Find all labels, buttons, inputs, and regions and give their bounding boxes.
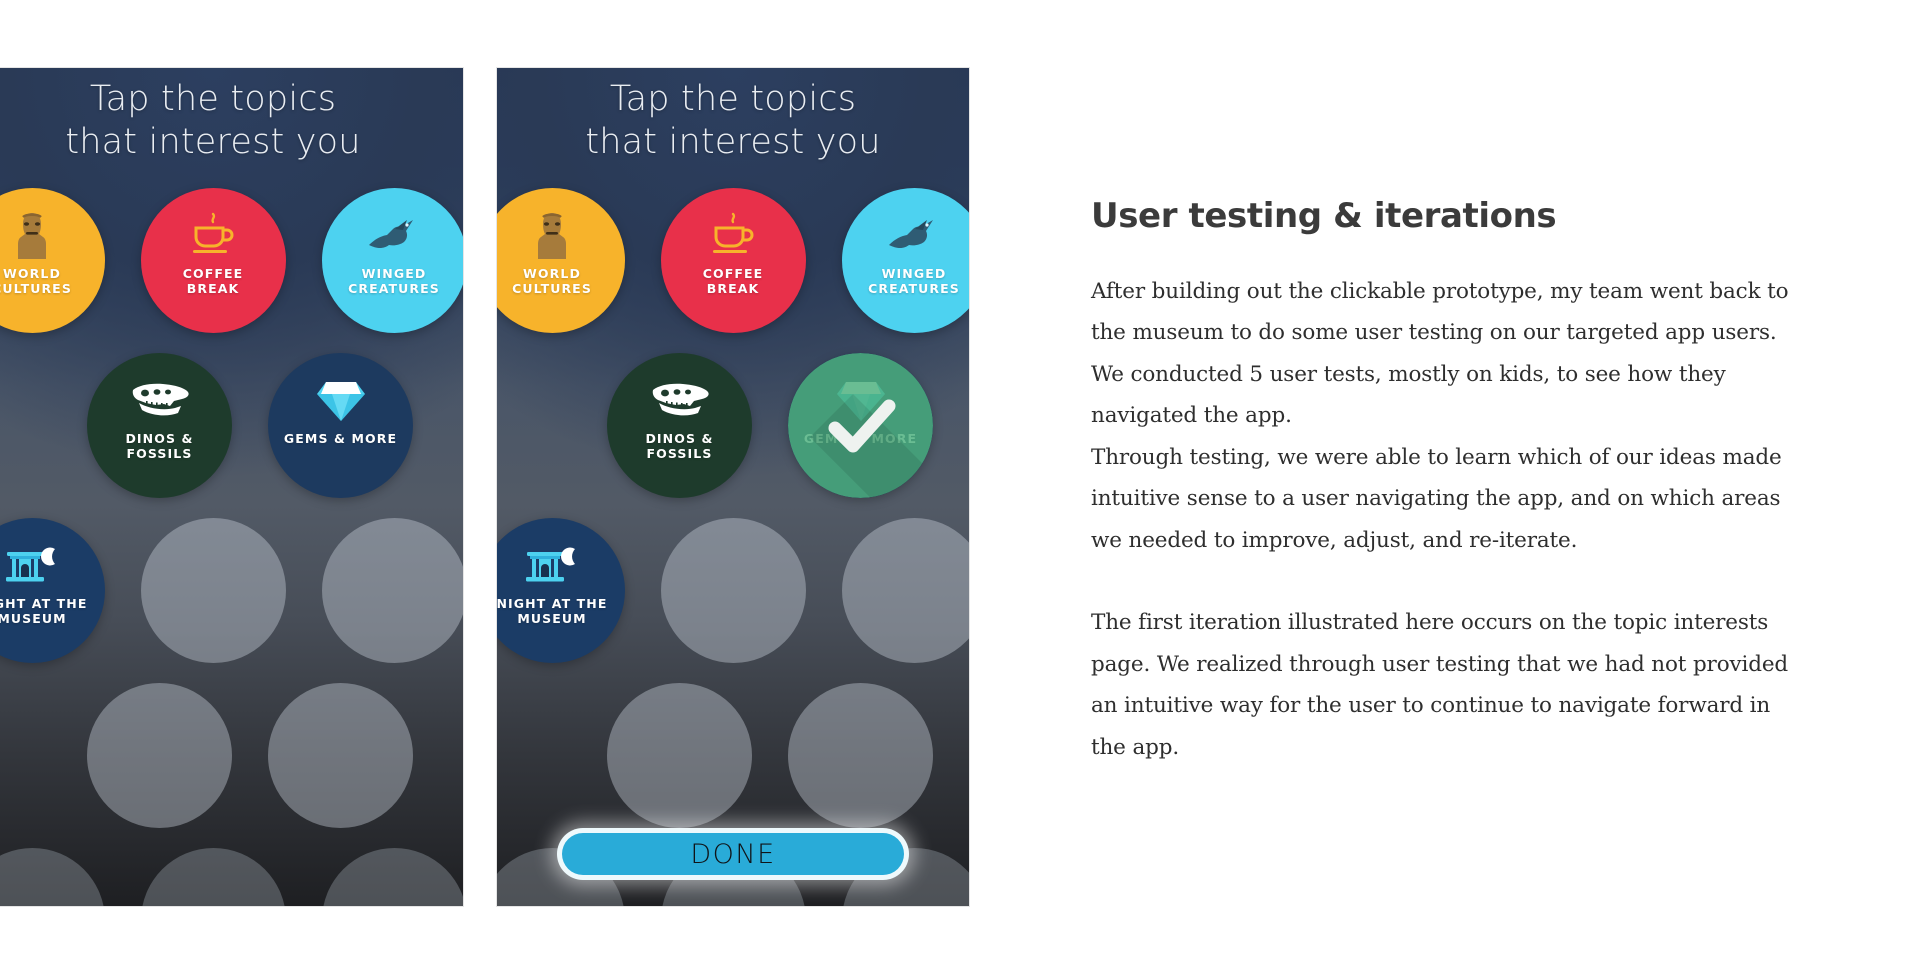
topic-bubble-winged-creatures[interactable]: WINGED CREATURES xyxy=(842,188,970,333)
topic-grid-row-1: WORLD CULTURES COFFEE BREAK xyxy=(0,188,463,333)
topic-bubble-coffee-break[interactable]: COFFEE BREAK xyxy=(141,188,286,333)
topic-bubble-coffee-break[interactable]: COFFEE BREAK xyxy=(661,188,806,333)
moai-statue-icon xyxy=(13,210,51,262)
topic-grid: WORLD CULTURES COFFEE BREAK xyxy=(0,188,463,906)
topic-label: DINOS & FOSSILS xyxy=(125,432,193,462)
pterodactyl-icon xyxy=(366,210,422,262)
topic-grid-row-2: DINOS & FOSSILS GEMS & MORE xyxy=(571,353,969,498)
pterodactyl-icon xyxy=(886,210,942,262)
museum-moon-icon xyxy=(523,540,581,592)
topic-bubble-night-museum[interactable]: NIGHT AT THE MUSEUM xyxy=(497,518,625,663)
dinosaur-skull-icon xyxy=(649,375,711,427)
topic-bubble-placeholder[interactable] xyxy=(141,518,286,663)
paragraph-1: After building out the clickable prototy… xyxy=(1091,271,1803,437)
topic-bubble-world-cultures[interactable]: WORLD CULTURES xyxy=(0,188,105,333)
page-title: User testing & iterations xyxy=(1091,196,1803,237)
topic-label: WORLD CULTURES xyxy=(0,267,72,297)
topic-bubble-placeholder[interactable] xyxy=(87,683,232,828)
topic-grid-row-1: WORLD CULTURES COFFEE BREAK xyxy=(497,188,969,333)
topic-label: WINGED CREATURES xyxy=(868,267,960,297)
topic-bubble-placeholder[interactable] xyxy=(141,848,286,906)
paragraph-2: Through testing, we were able to learn w… xyxy=(1091,437,1803,562)
topic-grid: WORLD CULTURES COFFEE BREAK xyxy=(497,188,969,906)
topic-bubble-dinos-fossils[interactable]: DINOS & FOSSILS xyxy=(607,353,752,498)
coffee-cup-icon xyxy=(708,210,758,262)
museum-moon-icon xyxy=(3,540,61,592)
selected-overlay xyxy=(788,353,933,498)
topic-bubble-placeholder[interactable] xyxy=(0,848,105,906)
topic-grid-row-3: NIGHT AT THE MUSEUM xyxy=(0,518,463,663)
topic-grid-row-4 xyxy=(37,683,463,828)
topic-grid-row-3: NIGHT AT THE MUSEUM xyxy=(497,518,969,663)
dinosaur-skull-icon xyxy=(129,375,191,427)
gem-diamond-icon xyxy=(315,375,367,427)
topic-bubble-dinos-fossils[interactable]: DINOS & FOSSILS xyxy=(87,353,232,498)
topic-grid-row-4 xyxy=(571,683,969,828)
topic-grid-row-2: DINOS & FOSSILS GEMS & MORE xyxy=(37,353,463,498)
topic-label: WORLD CULTURES xyxy=(512,267,592,297)
screen-title: Tap the topics that interest you xyxy=(0,78,463,163)
screen-title: Tap the topics that interest you xyxy=(497,78,969,163)
topic-bubble-world-cultures[interactable]: WORLD CULTURES xyxy=(497,188,625,333)
topic-bubble-placeholder[interactable] xyxy=(842,518,970,663)
article-text-column: User testing & iterations After building… xyxy=(1091,196,1803,768)
topic-label: DINOS & FOSSILS xyxy=(645,432,713,462)
topic-label: WINGED CREATURES xyxy=(348,267,440,297)
paragraph-3: The first iteration illustrated here occ… xyxy=(1091,602,1803,768)
phone-mockup-before: Tap the topics that interest you xyxy=(0,68,463,906)
phone-mockup-after: Tap the topics that interest you xyxy=(497,68,969,906)
topic-grid-row-5 xyxy=(0,848,463,906)
topic-label: GEMS & MORE xyxy=(284,432,397,447)
coffee-cup-icon xyxy=(188,210,238,262)
topic-bubble-placeholder[interactable] xyxy=(607,683,752,828)
topic-label: NIGHT AT THE MUSEUM xyxy=(0,597,88,627)
topic-bubble-gems-more-selected[interactable]: GEMS & MORE xyxy=(788,353,933,498)
topic-label: COFFEE BREAK xyxy=(703,267,764,297)
paragraph-spacer xyxy=(1091,561,1803,602)
done-button[interactable]: DONE xyxy=(557,828,909,880)
topic-bubble-placeholder[interactable] xyxy=(268,683,413,828)
checkmark-icon xyxy=(815,380,907,472)
done-button-container: DONE xyxy=(497,828,969,880)
topic-label: COFFEE BREAK xyxy=(183,267,244,297)
topic-bubble-winged-creatures[interactable]: WINGED CREATURES xyxy=(322,188,464,333)
topic-bubble-night-museum[interactable]: NIGHT AT THE MUSEUM xyxy=(0,518,105,663)
topic-bubble-gems-more[interactable]: GEMS & MORE xyxy=(268,353,413,498)
topic-bubble-placeholder[interactable] xyxy=(788,683,933,828)
topic-bubble-placeholder[interactable] xyxy=(661,518,806,663)
moai-statue-icon xyxy=(533,210,571,262)
phone-mockups-group: Tap the topics that interest you xyxy=(0,68,990,906)
topic-bubble-placeholder[interactable] xyxy=(322,848,464,906)
topic-bubble-placeholder[interactable] xyxy=(322,518,464,663)
topic-label: NIGHT AT THE MUSEUM xyxy=(497,597,608,627)
